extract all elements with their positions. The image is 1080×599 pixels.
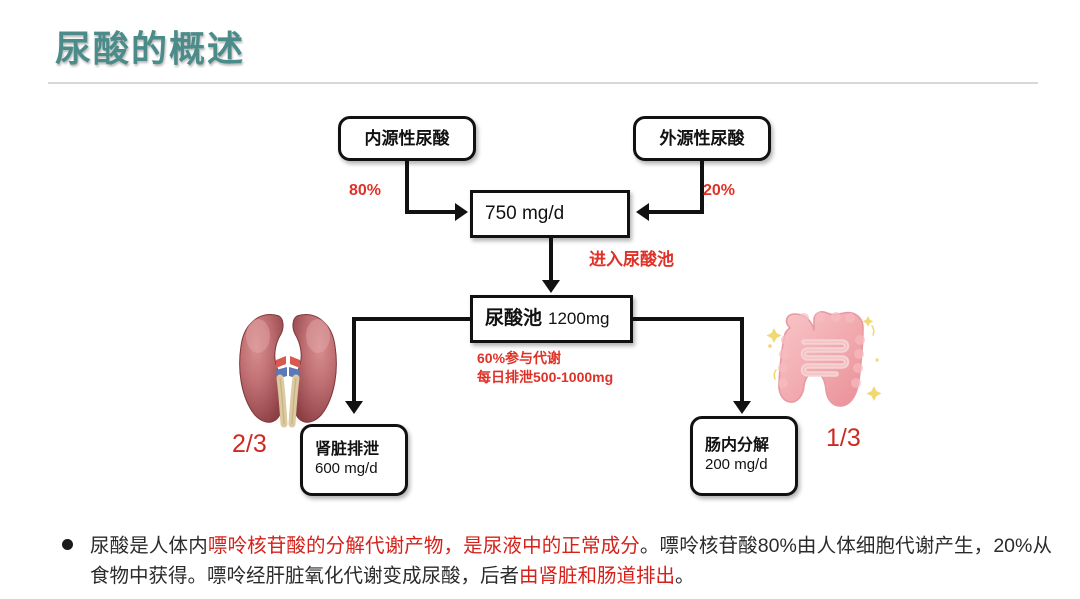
pool-name-text: 尿酸池 (485, 308, 542, 329)
footnote-segment-0: 尿酸是人体内 (90, 535, 208, 557)
intestine-icon (764, 300, 886, 418)
node-intestinal-breakdown-value: 200 mg/d (705, 456, 768, 475)
edge-endogenous-down (405, 161, 409, 214)
node-uric-acid-pool-label: 尿酸池1200mg (485, 308, 609, 330)
footnote-segment-4: 。 (675, 565, 695, 587)
label-exogenous-percent: 20% (703, 182, 735, 200)
arrowhead-endogenous-to-production (455, 203, 468, 221)
arrowhead-exogenous-to-production (636, 203, 649, 221)
edge-pool-left-down (352, 317, 356, 403)
label-enter-pool: 进入尿酸池 (589, 245, 674, 270)
uric-acid-flowchart: 内源性尿酸 外源性尿酸 750 mg/d 尿酸池1200mg 肾脏排泄 600 … (0, 0, 1080, 520)
footnote-paragraph: 尿酸是人体内嘌呤核苷酸的分解代谢产物，是尿液中的正常成分。嘌呤核苷酸80%由人体… (90, 531, 1052, 591)
edge-pool-left (352, 317, 472, 321)
bullet-point-icon (62, 539, 73, 550)
arrowhead-pool-to-intestine (733, 401, 751, 414)
label-endogenous-percent: 80% (349, 182, 381, 200)
node-kidney-excretion[interactable]: 肾脏排泄 600 mg/d (300, 424, 408, 496)
node-kidney-excretion-label: 肾脏排泄 (315, 441, 379, 459)
arrowhead-production-to-pool (542, 280, 560, 293)
label-intestine-fraction: 1/3 (826, 424, 861, 453)
label-metabolism-line2: 每日排泄500-1000mg (477, 368, 613, 387)
footnote-bullet-row: 尿酸是人体内嘌呤核苷酸的分解代谢产物，是尿液中的正常成分。嘌呤核苷酸80%由人体… (62, 531, 1052, 591)
node-daily-production[interactable]: 750 mg/d (470, 190, 630, 238)
slide-root: 尿酸的概述 内源性尿酸 外源性尿酸 750 mg/d 尿酸池1200mg 肾脏排… (0, 0, 1080, 599)
kidneys-icon (232, 302, 344, 430)
edge-pool-right (631, 317, 744, 321)
edge-exogenous-left (648, 210, 704, 214)
label-metabolism-line1: 60%参与代谢 (477, 349, 613, 368)
node-intestinal-breakdown[interactable]: 肠内分解 200 mg/d (690, 416, 798, 496)
pool-amount-text: 1200mg (548, 309, 609, 328)
node-exogenous-label: 外源性尿酸 (660, 129, 745, 149)
node-daily-production-label: 750 mg/d (485, 203, 564, 225)
footnote-segment-1: 嘌呤核苷酸的分解代谢产物，是尿液中的正常成分 (208, 535, 640, 557)
edge-endogenous-right (405, 210, 457, 214)
node-endogenous-label: 内源性尿酸 (365, 129, 450, 149)
node-uric-acid-pool[interactable]: 尿酸池1200mg (470, 295, 633, 343)
node-intestinal-breakdown-label: 肠内分解 (705, 437, 769, 455)
edge-production-to-pool (549, 238, 553, 282)
edge-pool-right-down (740, 317, 744, 403)
label-kidney-fraction: 2/3 (232, 430, 267, 459)
node-kidney-excretion-value: 600 mg/d (315, 460, 378, 479)
label-metabolism-notes: 60%参与代谢 每日排泄500-1000mg (477, 349, 613, 387)
arrowhead-pool-to-kidney (345, 401, 363, 414)
node-endogenous-uric-acid[interactable]: 内源性尿酸 (338, 116, 476, 161)
footnote-segment-3: 由肾脏和肠道排出 (519, 565, 675, 587)
node-exogenous-uric-acid[interactable]: 外源性尿酸 (633, 116, 771, 161)
